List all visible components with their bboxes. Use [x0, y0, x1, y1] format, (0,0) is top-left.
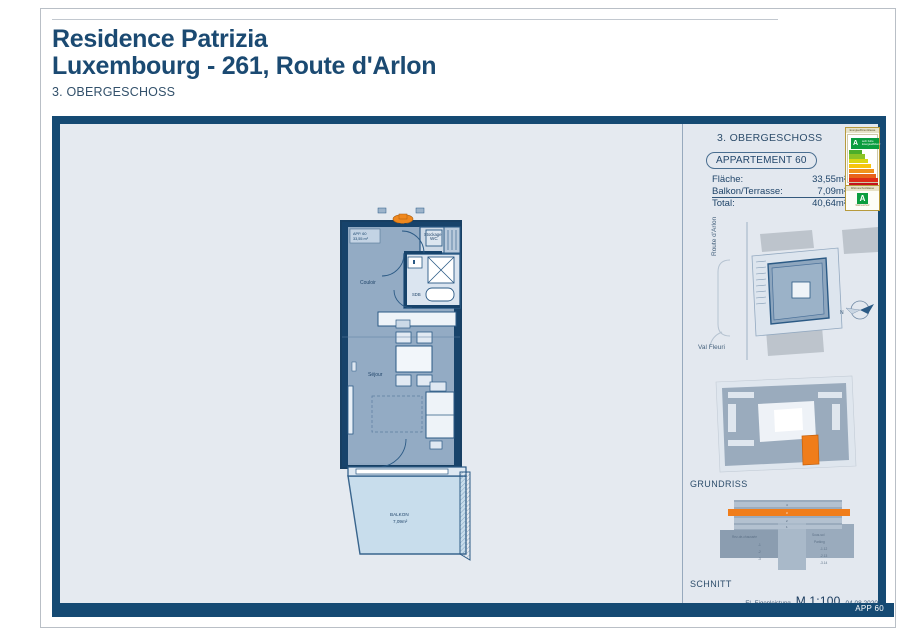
svg-text:N: N	[840, 310, 844, 316]
area-label-total: Total:	[712, 198, 735, 210]
svg-text:-3: -3	[758, 557, 761, 561]
svg-text:-2.13: -2.13	[820, 554, 827, 558]
area-value-balkon: 7,09m²	[817, 186, 847, 198]
document-header: Residence Patrizia Luxembourg - 261, Rou…	[52, 19, 778, 99]
svg-text:-1.12: -1.12	[820, 547, 827, 551]
energy-scale: sehr hohe Energieeffizienz A	[847, 134, 878, 183]
area-row-flaeche: Fläche: 33,55m²	[712, 174, 847, 186]
svg-text:Couloir: Couloir	[360, 280, 376, 286]
panel-divider	[682, 124, 683, 609]
energy-bar-d	[849, 159, 868, 163]
section-label: SCHNITT	[690, 579, 732, 589]
apartment-badge: APPARTEMENT 60	[706, 152, 817, 169]
drawing-frame: Couloir Stockage WC SDB	[52, 116, 886, 617]
svg-text:SDB: SDB	[412, 292, 421, 297]
floor-plan-drawing: Couloir Stockage WC SDB	[60, 124, 682, 609]
energy-bar-f	[849, 169, 874, 173]
area-value-flaeche: 33,55m²	[812, 174, 847, 186]
thermal-rating-letter: A	[857, 193, 868, 204]
area-row-balkon: Balkon/Terrasse: 7,09m²	[712, 186, 847, 199]
svg-text:Parking: Parking	[814, 540, 825, 544]
svg-text:-2: -2	[758, 550, 761, 554]
thermal-footer: Wärmeschutz	[846, 205, 879, 207]
site-street-label-arlon: Route d'Arlon	[711, 217, 718, 256]
energy-bar-c	[849, 154, 865, 158]
svg-text:APP. 60: APP. 60	[353, 232, 366, 236]
page-title-line2: Luxembourg - 261, Route d'Arlon	[52, 53, 778, 80]
document-page: Residence Patrizia Luxembourg - 261, Rou…	[40, 8, 896, 628]
page-subtitle: 3. OBERGESCHOSS	[52, 85, 778, 99]
energy-bar-h	[849, 178, 878, 182]
site-plan: N Route d'Arlon Val Fleuri	[700, 222, 878, 360]
key-plan-diagram	[706, 374, 878, 474]
svg-text:7,09m²: 7,09m²	[393, 519, 408, 524]
energy-certificate: Energieeffizienzklasse sehr hohe Energie…	[845, 127, 880, 211]
header-top-rule	[52, 19, 778, 20]
svg-text:EG+5: EG+5	[394, 223, 407, 229]
energy-title: Energieeffizienzklasse	[846, 128, 879, 133]
svg-text:-3.14: -3.14	[820, 561, 827, 565]
svg-text:WC: WC	[430, 236, 438, 241]
energy-green-text: sehr hohe Energieeffizienz	[862, 140, 878, 146]
svg-text:Rez-de-chaussée: Rez-de-chaussée	[732, 535, 757, 539]
svg-text:Séjour: Séjour	[368, 372, 383, 378]
panel-floor-label: 3. OBERGESCHOSS	[717, 132, 822, 144]
svg-text:Sous-sol: Sous-sol	[812, 533, 825, 537]
energy-bar-b	[849, 150, 862, 154]
footer-app-bar: APP 60	[60, 603, 894, 617]
footer-app-code: APP 60	[855, 604, 884, 613]
info-panel: 3. OBERGESCHOSS APPARTEMENT 60 Fläche: 3…	[690, 124, 878, 609]
thermal-certificate: Wärmeschutzklasse A Wärmeschutz	[846, 185, 879, 210]
site-street-label-valfleuri: Val Fleuri	[698, 344, 725, 351]
area-label-flaeche: Fläche:	[712, 174, 743, 186]
energy-bar-e	[849, 164, 871, 168]
svg-text:-1: -1	[758, 543, 761, 547]
energy-rating-letter: A	[851, 139, 860, 148]
section-diagram: 4 3 2 1 Rez-de-chaussée -1 -2 -3 Sous-so…	[720, 496, 878, 574]
area-label-balkon: Balkon/Terrasse:	[712, 186, 783, 198]
frame-inner: Couloir Stockage WC SDB	[60, 124, 878, 609]
energy-bar-g	[849, 174, 876, 178]
key-plan-label: GRUNDRISS	[690, 479, 748, 489]
svg-text:BALKON: BALKON	[390, 512, 409, 517]
area-table: Fläche: 33,55m² Balkon/Terrasse: 7,09m² …	[712, 174, 847, 210]
area-row-total: Total: 40,64m²	[712, 198, 847, 210]
area-value-total: 40,64m²	[812, 198, 847, 210]
thermal-title: Wärmeschutzklasse	[846, 186, 879, 191]
svg-text:33,55 m²: 33,55 m²	[353, 237, 369, 241]
page-title-line1: Residence Patrizia	[52, 26, 778, 53]
